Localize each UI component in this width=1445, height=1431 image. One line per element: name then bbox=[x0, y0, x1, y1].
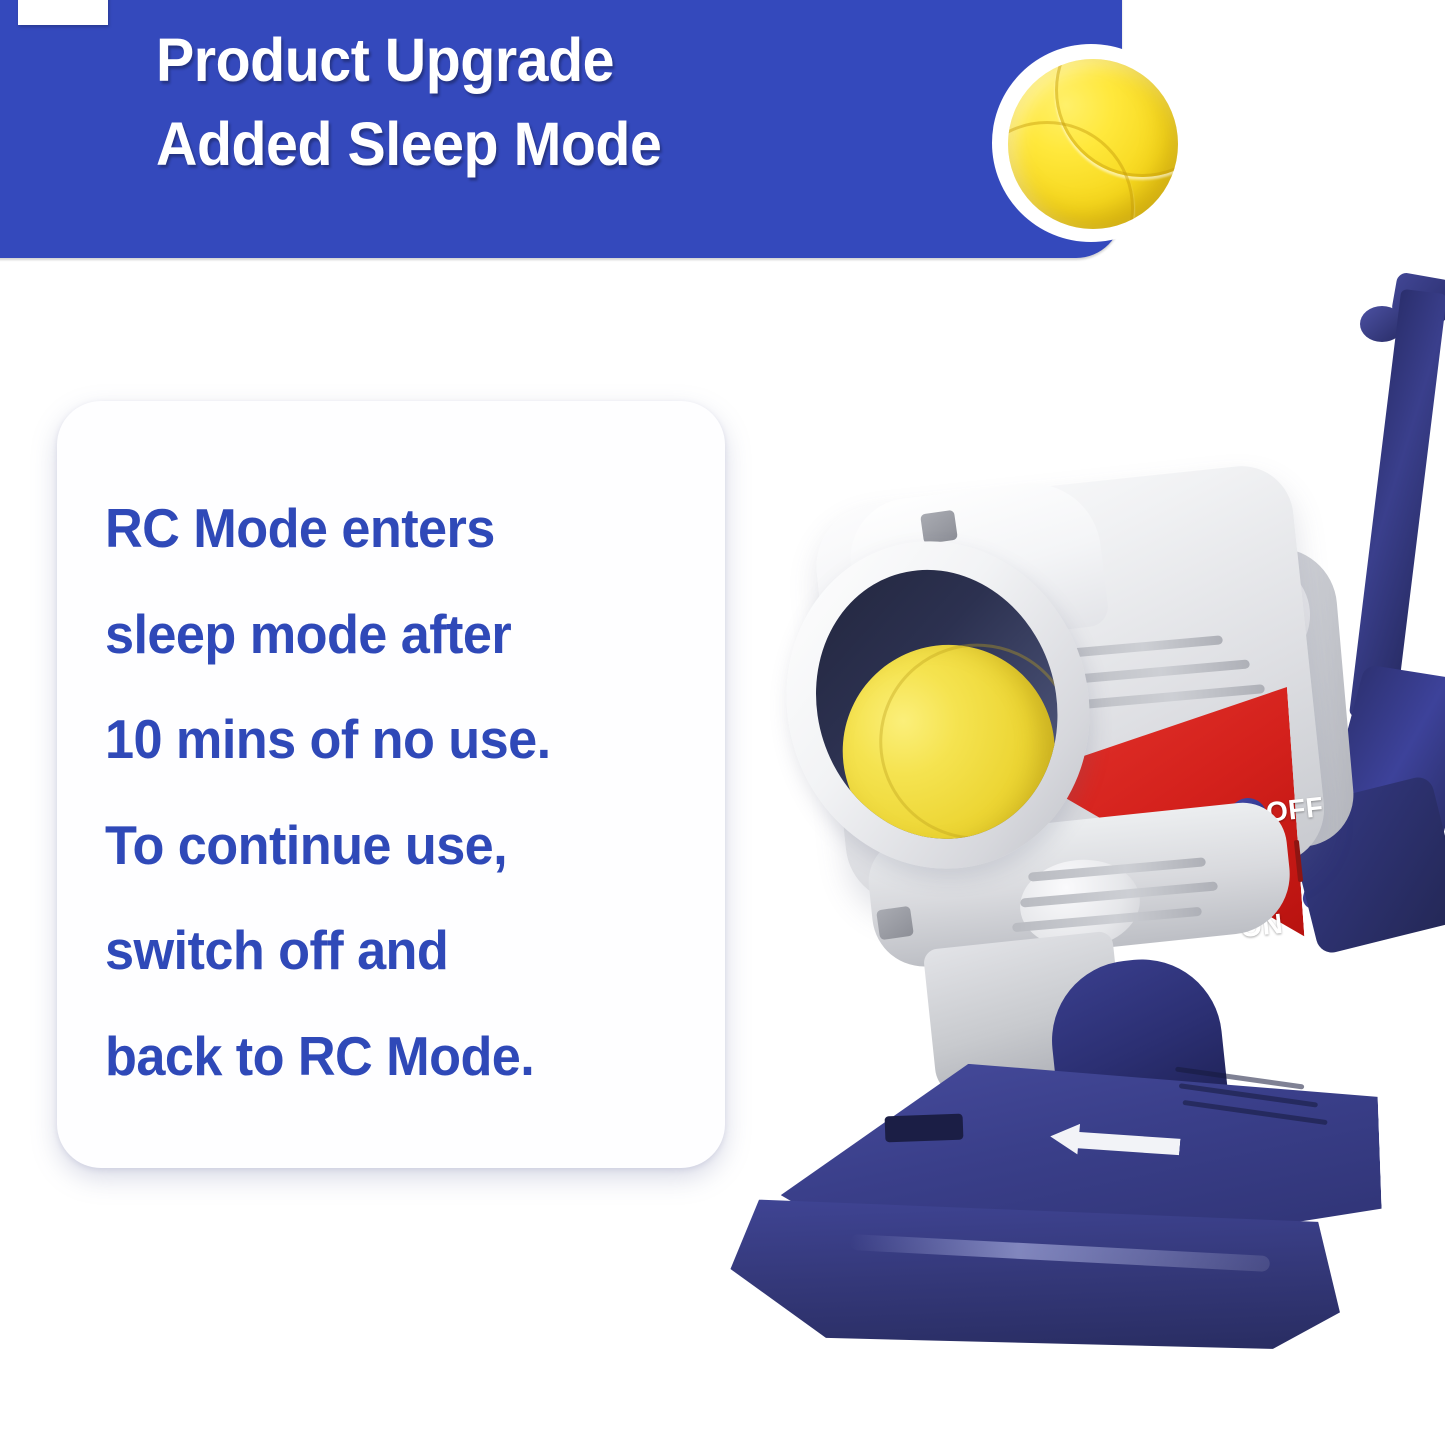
info-card: RC Mode enters sleep mode after 10 mins … bbox=[57, 401, 725, 1168]
head-top-nub bbox=[920, 510, 958, 544]
header-banner: Product Upgrade Added Sleep Mode bbox=[0, 0, 1122, 258]
info-card-body-text: RC Mode enters sleep mode after 10 mins … bbox=[105, 476, 675, 1110]
base-slot bbox=[885, 1114, 964, 1143]
page-title: Product Upgrade Added Sleep Mode bbox=[156, 18, 908, 186]
arm-post bbox=[1349, 289, 1445, 721]
infographic-page: Product Upgrade Added Sleep Mode RC Mode… bbox=[0, 0, 1445, 1431]
product-illustration: OFF ON bbox=[700, 260, 1445, 1431]
header-notch-decoration bbox=[18, 0, 108, 25]
head-bottom-nub bbox=[876, 906, 914, 940]
tennis-ball-icon bbox=[1008, 59, 1178, 229]
